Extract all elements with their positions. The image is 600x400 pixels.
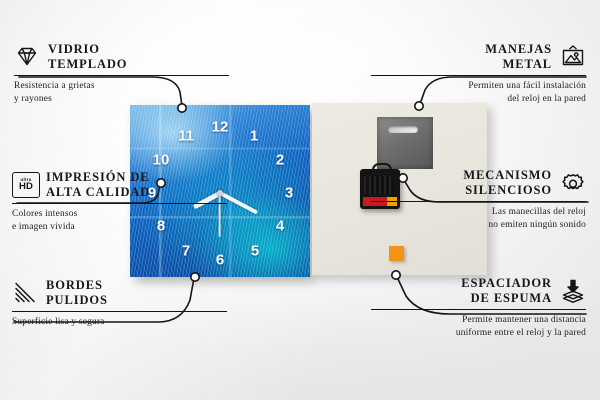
gear-icon xyxy=(560,170,586,196)
feature-title-line1: MECANISMO xyxy=(463,168,552,183)
feature-title-line1: BORDES xyxy=(46,278,108,293)
metal-hanger-plate xyxy=(377,117,433,169)
foam-spacer-pad xyxy=(389,246,404,261)
feature-description: Colores intensos e imagen vívida xyxy=(12,208,227,233)
feature-header: VIDRIO TEMPLADO xyxy=(14,42,229,72)
clock-numeral-5: 5 xyxy=(251,244,259,259)
clock-numeral-2: 2 xyxy=(276,153,284,168)
feature-title-line2: TEMPLADO xyxy=(48,57,127,72)
clock-numeral-1: 1 xyxy=(250,129,258,144)
feature-title-line1: VIDRIO xyxy=(48,42,127,57)
clock-numeral-10: 10 xyxy=(153,153,170,168)
feature-title-line1: IMPRESIÓN DE xyxy=(46,170,150,185)
diamond-icon xyxy=(14,44,40,70)
clock-numeral-3: 3 xyxy=(285,186,293,201)
feature-manejas-metal: MANEJAS METAL Permiten una fácil instala… xyxy=(371,42,586,105)
clock-numeral-11: 11 xyxy=(178,129,194,144)
ultra-hd-icon-main-text: HD xyxy=(19,182,33,192)
feature-header: BORDES PULIDOS xyxy=(12,278,227,308)
feature-header: MECANISMO SILENCIOSO xyxy=(371,168,586,198)
feature-description: Las manecillas del reloj no emiten ningú… xyxy=(371,206,586,231)
ultra-hd-icon: ultra HD xyxy=(12,172,38,198)
feature-mecanismo-silencioso: MECANISMO SILENCIOSO Las manecillas del … xyxy=(371,168,586,231)
feature-espaciador-de-espuma: ESPACIADOR DE ESPUMA Permite mantener un… xyxy=(371,276,586,339)
feature-bordes-pulidos: BORDES PULIDOS Superficie lisa y segura xyxy=(12,278,227,329)
feature-impresion-alta-calidad: ultra HD IMPRESIÓN DE ALTA CALIDAD Color… xyxy=(12,170,227,233)
feature-divider xyxy=(371,309,586,311)
feature-description: Resistencia a grietas y rayones xyxy=(14,80,229,105)
feature-title-line1: MANEJAS xyxy=(485,42,552,57)
feature-divider xyxy=(12,311,227,313)
feature-description: Permiten una fácil instalación del reloj… xyxy=(371,80,586,105)
feature-title-line2: ALTA CALIDAD xyxy=(46,185,150,200)
polished-edges-icon xyxy=(12,280,38,306)
clock-numeral-12: 12 xyxy=(212,120,229,135)
clock-numeral-6: 6 xyxy=(216,253,224,268)
feature-title-line1: ESPACIADOR xyxy=(461,276,552,291)
clock-numeral-7: 7 xyxy=(182,244,190,259)
infographic-canvas: 12 1 2 3 4 5 6 7 8 9 10 11 xyxy=(0,0,600,400)
feature-divider xyxy=(14,75,229,77)
feature-divider xyxy=(371,75,586,77)
clock-numeral-4: 4 xyxy=(276,219,284,234)
hanger-slot xyxy=(388,126,418,133)
picture-hanger-icon xyxy=(560,44,586,70)
feature-title-line2: PULIDOS xyxy=(46,293,108,308)
feature-title-line2: METAL xyxy=(485,57,552,72)
feature-description: Permite mantener una distancia uniforme … xyxy=(371,314,586,339)
feature-divider xyxy=(12,203,227,205)
feature-description: Superficie lisa y segura xyxy=(12,316,227,329)
feature-header: ultra HD IMPRESIÓN DE ALTA CALIDAD xyxy=(12,170,227,200)
feature-divider xyxy=(371,201,586,203)
feature-vidrio-templado: VIDRIO TEMPLADO Resistencia a grietas y … xyxy=(14,42,229,105)
feature-title-line2: SILENCIOSO xyxy=(463,183,552,198)
feature-header: MANEJAS METAL xyxy=(371,42,586,72)
foam-spacer-icon xyxy=(560,278,586,304)
feature-header: ESPACIADOR DE ESPUMA xyxy=(371,276,586,306)
feature-title-line2: DE ESPUMA xyxy=(461,291,552,306)
